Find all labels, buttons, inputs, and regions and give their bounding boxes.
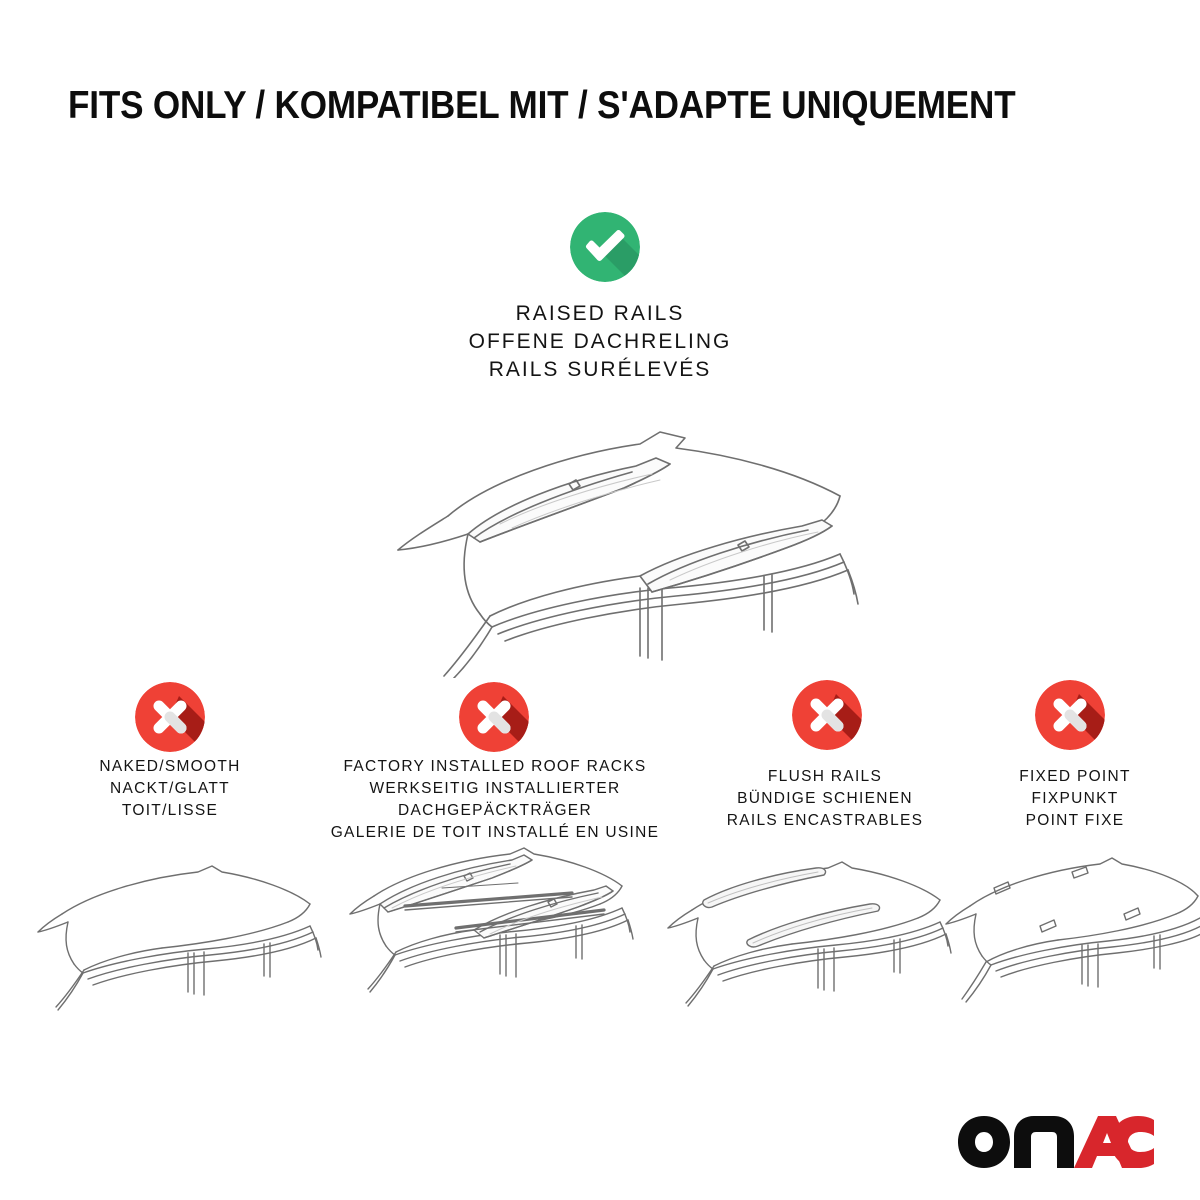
caption-line: NACKT/GLATT bbox=[40, 778, 300, 800]
caption-line: RAILS ENCASTRABLES bbox=[690, 810, 960, 832]
car-roof-naked-smooth-illustration bbox=[22, 852, 322, 1052]
logo-letter-m bbox=[1014, 1116, 1074, 1168]
x-icon bbox=[1035, 680, 1105, 750]
incompatible-caption-fixed-point: FIXED POINT FIXPUNKT POINT FIXE bbox=[960, 766, 1190, 832]
x-icon bbox=[792, 680, 862, 750]
fitment-guide-page: FITS ONLY / KOMPATIBEL MIT / S'ADAPTE UN… bbox=[0, 0, 1200, 1200]
car-roof-flush-rails-illustration bbox=[652, 852, 952, 1052]
car-roof-fixed-point-illustration bbox=[932, 852, 1200, 1052]
caption-line: DACHGEPÄCKTRÄGER bbox=[300, 800, 690, 822]
caption-line: BÜNDIGE SCHIENEN bbox=[690, 788, 960, 810]
caption-line: RAISED RAILS bbox=[370, 300, 830, 328]
check-icon bbox=[570, 212, 640, 282]
compatible-caption: RAISED RAILS OFFENE DACHRELING RAILS SUR… bbox=[370, 300, 830, 384]
x-icon bbox=[459, 682, 529, 752]
caption-line: RAILS SURÉLEVÉS bbox=[370, 356, 830, 384]
incompatible-caption-factory-roof-racks: FACTORY INSTALLED ROOF RACKS WERKSEITIG … bbox=[300, 756, 690, 844]
car-roof-factory-roof-racks-illustration bbox=[322, 840, 652, 1052]
caption-line: FACTORY INSTALLED ROOF RACKS bbox=[300, 756, 690, 778]
caption-line: POINT FIXE bbox=[960, 810, 1190, 832]
caption-line: NAKED/SMOOTH bbox=[40, 756, 300, 778]
caption-line: WERKSEITIG INSTALLIERTER bbox=[300, 778, 690, 800]
incompatible-caption-flush-rails: FLUSH RAILS BÜNDIGE SCHIENEN RAILS ENCAS… bbox=[690, 766, 960, 832]
x-icon bbox=[135, 682, 205, 752]
logo-letter-o bbox=[958, 1116, 1010, 1168]
caption-line: OFFENE DACHRELING bbox=[370, 328, 830, 356]
page-title: FITS ONLY / KOMPATIBEL MIT / S'ADAPTE UN… bbox=[68, 86, 1031, 127]
caption-line: TOIT/LISSE bbox=[40, 800, 300, 822]
incompatible-caption-naked-smooth: NAKED/SMOOTH NACKT/GLATT TOIT/LISSE bbox=[40, 756, 300, 822]
caption-line: FIXED POINT bbox=[960, 766, 1190, 788]
car-roof-raised-rails-illustration bbox=[340, 408, 860, 678]
caption-line: FIXPUNKT bbox=[960, 788, 1190, 810]
omac-logo bbox=[956, 1114, 1156, 1172]
caption-line: FLUSH RAILS bbox=[690, 766, 960, 788]
